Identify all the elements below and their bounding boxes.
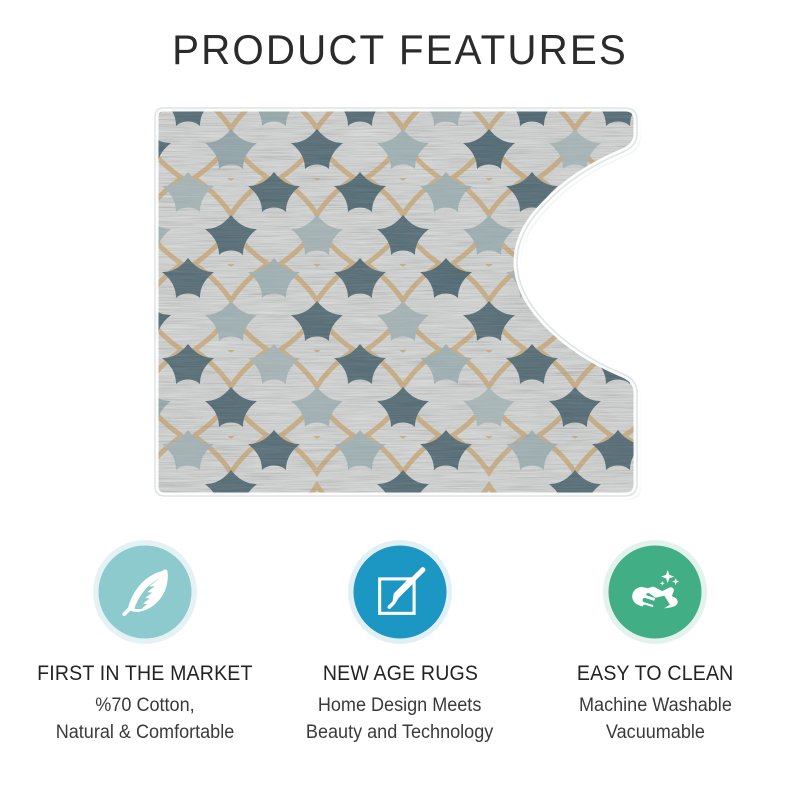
features-row: FIRST IN THE MARKET %70 Cotton, Natural … xyxy=(0,536,800,747)
feature-title: EASY TO CLEAN xyxy=(577,662,734,687)
page-title: PRODUCT FEATURES xyxy=(16,26,784,74)
feature-subtitle-line: Beauty and Technology xyxy=(306,720,493,747)
feature-new-age-rugs: NEW AGE RUGS Home Design Meets Beauty an… xyxy=(273,536,527,747)
infographic-page: PRODUCT FEATURES xyxy=(0,0,800,800)
feature-easy-to-clean: EASY TO CLEAN Machine Washable Vacuumabl… xyxy=(528,536,782,747)
hand-cleaning-cloth-icon xyxy=(625,562,685,622)
feature-icon-wrap xyxy=(599,536,711,648)
feature-subtitle-line: Vacuumable xyxy=(579,720,732,747)
feature-subtitle-line: %70 Cotton, xyxy=(56,693,235,720)
feature-subtitle: %70 Cotton, Natural & Comfortable xyxy=(56,693,235,747)
feature-subtitle-line: Natural & Comfortable xyxy=(56,720,235,747)
design-pen-pencil-icon xyxy=(371,563,429,621)
icon-circle xyxy=(609,546,702,639)
contour-bath-mat-illustration xyxy=(145,92,655,512)
icon-circle xyxy=(354,546,447,639)
product-image xyxy=(145,92,655,512)
feature-icon-wrap xyxy=(89,536,201,648)
feature-subtitle: Machine Washable Vacuumable xyxy=(579,693,732,747)
feature-icon-wrap xyxy=(344,536,456,648)
feature-subtitle-line: Machine Washable xyxy=(579,693,732,720)
feature-subtitle: Home Design Meets Beauty and Technology xyxy=(306,693,493,747)
feather-icon xyxy=(114,561,176,623)
feature-title: NEW AGE RUGS xyxy=(322,662,477,687)
icon-circle xyxy=(99,546,192,639)
feature-subtitle-line: Home Design Meets xyxy=(306,693,493,720)
feature-first-in-the-market: FIRST IN THE MARKET %70 Cotton, Natural … xyxy=(18,536,272,747)
feature-title: FIRST IN THE MARKET xyxy=(37,662,252,687)
